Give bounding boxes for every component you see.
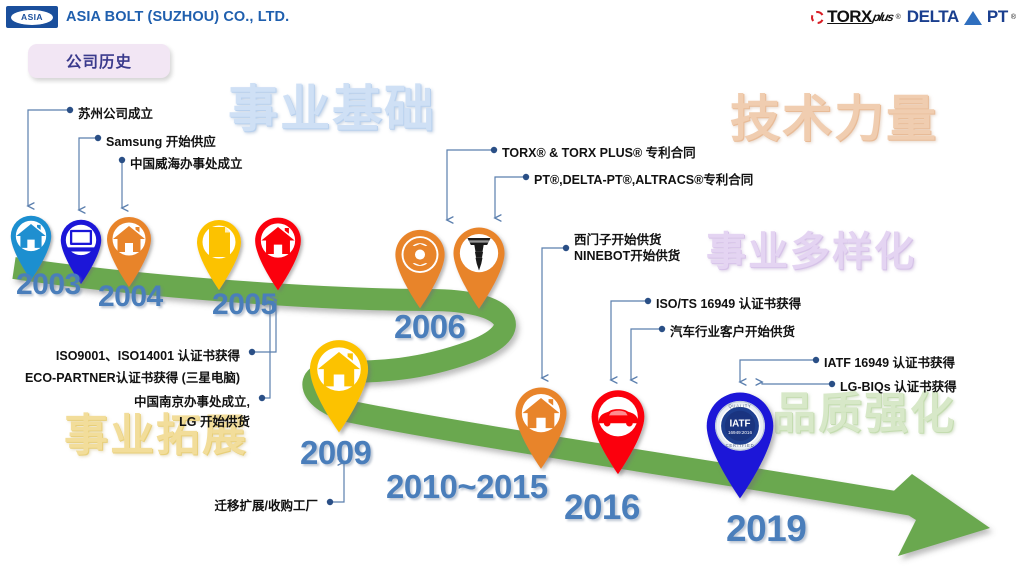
- delta-wordmark: DELTA: [907, 7, 959, 27]
- callout-c15: 迁移扩展/收购工厂: [215, 498, 318, 514]
- pin-2005b-house[interactable]: [252, 214, 304, 292]
- connector-8: [631, 329, 662, 380]
- svg-text:IATF: IATF: [729, 419, 750, 430]
- laptop-icon: [65, 230, 96, 252]
- year-label-2003: 2003: [16, 268, 81, 302]
- connector-10: [762, 382, 832, 384]
- callout-c11: ISO9001、ISO14001 认证书获得: [56, 348, 240, 364]
- iatf-seal-icon: IATF16949:2016QUALITYCERTIFIED: [716, 402, 764, 450]
- callout-c12: ECO-PARTNER认证书获得 (三星电脑): [25, 370, 240, 386]
- connector-2: [79, 138, 98, 210]
- svg-text:CERTIFIED: CERTIFIED: [726, 443, 755, 448]
- callout-c2: Samsung 开始供应: [106, 134, 216, 150]
- year-label-2009: 2009: [300, 434, 371, 472]
- callout-c4: TORX® & TORX PLUS® 专利合同: [502, 145, 696, 161]
- year-label-2004: 2004: [98, 280, 163, 314]
- callout-c8: 汽车行业客户开始供货: [670, 324, 795, 340]
- asia-logo-text: ASIA: [11, 10, 53, 25]
- callout-c14: LG 开始供货: [179, 414, 250, 430]
- callout-c1: 苏州公司成立: [78, 106, 153, 122]
- pin-2016-car[interactable]: [588, 386, 648, 476]
- callout-c13: 中国南京办事处成立,: [134, 394, 250, 410]
- slide-canvas: ASIA ASIA BOLT (SUZHOU) CO., LTD. TORX p…: [0, 0, 1024, 576]
- connector-6: [542, 248, 566, 378]
- section-tab-company-history[interactable]: 公司历史: [28, 44, 170, 78]
- pin-2006-torx[interactable]: [392, 226, 448, 310]
- year-label-2006: 2006: [394, 308, 465, 346]
- torx-ring-icon: [811, 11, 824, 24]
- brand-logos: TORX plus ® DELTA PT ®: [811, 6, 1016, 28]
- heading-quality: 品质强化: [772, 392, 956, 436]
- callout-c9: IATF 16949 认证书获得: [824, 355, 955, 371]
- pin-2009-house[interactable]: [306, 336, 372, 434]
- year-label-2010-2015: 2010~2015: [386, 468, 548, 506]
- heading-foundation: 事业基础: [228, 84, 436, 134]
- year-label-2016: 2016: [564, 488, 640, 528]
- torx-wordmark: TORX: [827, 7, 872, 27]
- torx-icon: [404, 241, 435, 269]
- pin-body: [592, 390, 645, 474]
- torx-plus-wordmark: plus: [871, 10, 894, 24]
- delta-triangle-icon: [964, 11, 982, 25]
- torx-registered-mark: ®: [896, 14, 901, 21]
- connector-7: [611, 301, 648, 380]
- connector-1: [28, 110, 70, 206]
- pt-registered-mark: ®: [1011, 14, 1016, 21]
- connector-5: [495, 177, 526, 218]
- connector-9: [740, 360, 816, 382]
- pin-2019-iatf[interactable]: IATF16949:2016QUALITYCERTIFIED: [702, 388, 778, 500]
- pin-2006b-screw[interactable]: [450, 224, 508, 310]
- callout-c10: LG-BIQs 认证书获得: [840, 379, 957, 395]
- company-name: ASIA BOLT (SUZHOU) CO., LTD.: [66, 9, 289, 25]
- svg-text:QUALITY: QUALITY: [728, 404, 751, 409]
- document-icon: [209, 227, 230, 257]
- pin-2005-document[interactable]: [194, 216, 244, 292]
- asia-logo-icon: ASIA: [6, 6, 58, 28]
- year-label-2005: 2005: [212, 288, 277, 322]
- heading-diversification: 事业多样化: [706, 232, 916, 272]
- callout-c5: PT®,DELTA-PT®,ALTRACS®专利合同: [534, 172, 753, 188]
- callout-c3: 中国威海办事处成立: [130, 156, 243, 172]
- pt-wordmark: PT: [987, 7, 1008, 27]
- callout-c6: 西门子开始供货 NINEBOT开始供货: [574, 232, 680, 264]
- svg-text:16949:2016: 16949:2016: [728, 430, 752, 435]
- year-label-2019: 2019: [726, 508, 806, 550]
- callout-c7: ISO/TS 16949 认证书获得: [656, 296, 801, 312]
- section-tab-label: 公司历史: [66, 50, 132, 72]
- pin-2015-house[interactable]: [512, 384, 570, 470]
- pin-2004b-house[interactable]: [104, 214, 154, 288]
- heading-technology: 技术力量: [730, 94, 938, 144]
- connector-4: [447, 150, 494, 220]
